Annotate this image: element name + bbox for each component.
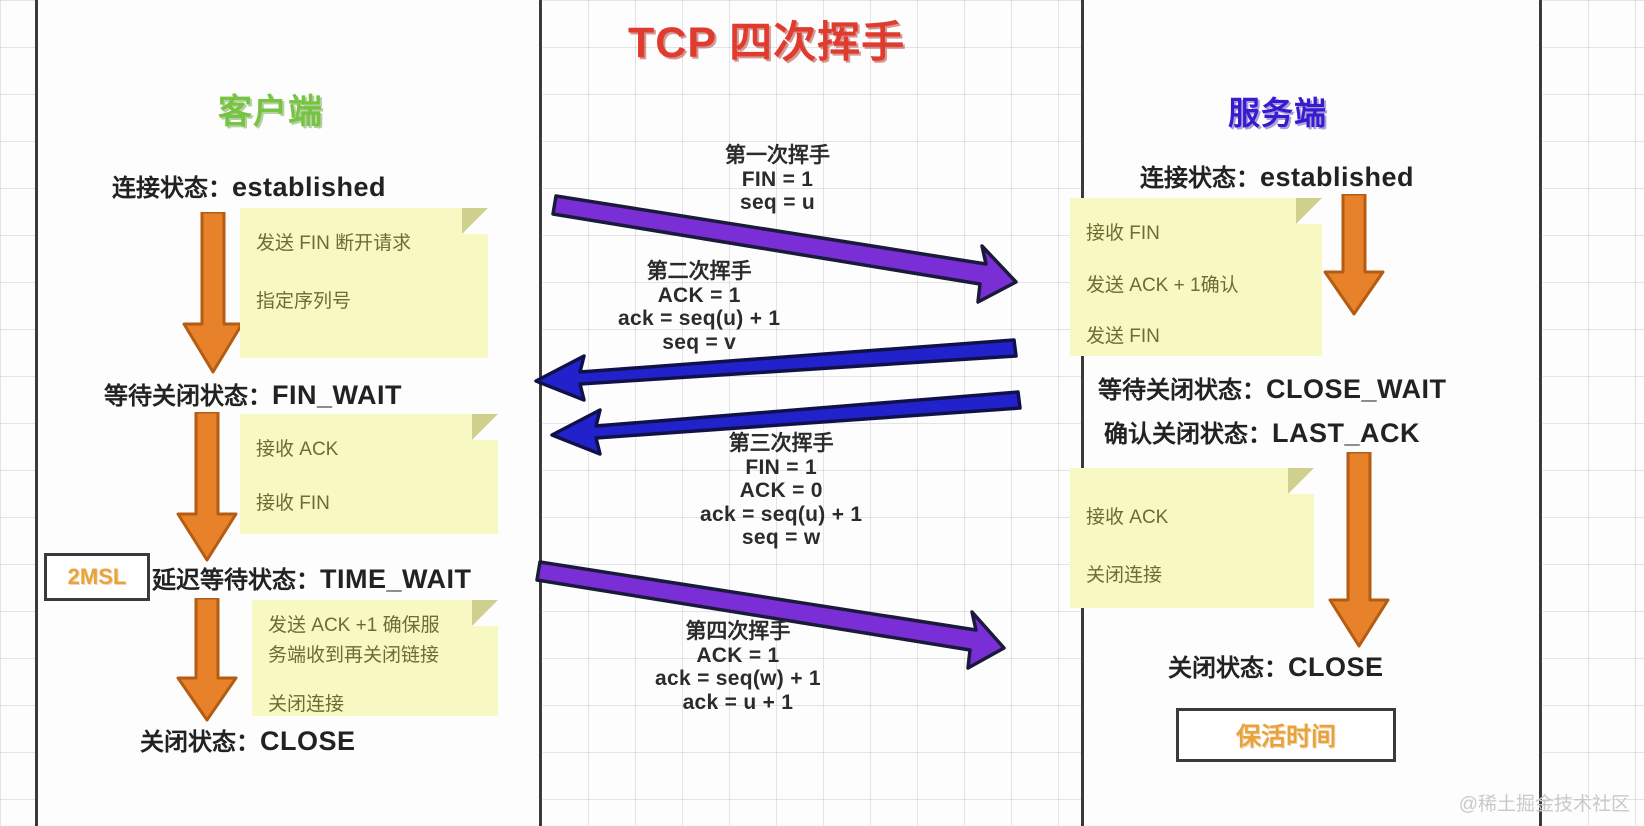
client-state-fin-wait: 等待关闭状态：FIN_WAIT [104,376,402,411]
client-arrow-1-icon [182,212,244,374]
client-2msl-box: 2MSL [44,553,150,601]
client-state-established: 连接状态：established [112,168,386,203]
divider-right [1539,0,1542,826]
client-note-3: 发送 ACK +1 确保服 务端收到再关闭链接 关闭连接 [252,600,498,716]
client-2msl-label: 2MSL [68,564,127,590]
server-arrow-2-icon [1328,452,1390,648]
server-note-1: 接收 FIN 发送 ACK + 1确认 发送 FIN [1070,198,1322,356]
message-3-label: 第三次挥手 FIN = 1 ACK = 0 ack = seq(u) + 1 s… [700,432,862,550]
grid-paper-right [1541,0,1644,826]
server-arrow-1-icon [1323,194,1385,316]
server-state-last-ack: 确认关闭状态：LAST_ACK [1104,414,1420,449]
client-note-2: 接收 ACK 接收 FIN [240,414,498,534]
server-title: 服务端 [1228,88,1327,134]
server-keepalive-box: 保活时间 [1176,708,1396,762]
divider-left [35,0,38,826]
divider-client-mid [539,0,542,826]
client-arrow-2-icon [176,412,238,562]
client-state-close: 关闭状态：CLOSE [140,722,356,757]
page-title: TCP 四次挥手 [628,8,905,70]
server-state-close-wait: 等待关闭状态：CLOSE_WAIT [1098,370,1447,405]
server-note-2: 接收 ACK 关闭连接 [1070,468,1314,608]
message-1-label: 第一次挥手 FIN = 1 seq = u [725,144,830,215]
client-title: 客户端 [218,84,323,133]
watermark: @稀土掘金技术社区 [1459,789,1630,816]
server-state-established: 连接状态：established [1140,158,1414,193]
server-state-close: 关闭状态：CLOSE [1168,648,1384,683]
divider-mid-server [1081,0,1084,826]
grid-paper-left [0,0,37,826]
client-state-time-wait: 延迟等待状态：TIME_WAIT [152,560,472,595]
server-keepalive-label: 保活时间 [1236,717,1336,753]
message-4-label: 第四次挥手 ACK = 1 ack = seq(w) + 1 ack = u +… [655,620,821,714]
message-2-label: 第二次挥手 ACK = 1 ack = seq(u) + 1 seq = v [618,260,780,354]
client-note-1: 发送 FIN 断开请求 指定序列号 [240,208,488,358]
diagram-canvas: TCP 四次挥手 客户端 服务端 连接状态：established 发送 FIN… [0,0,1644,826]
client-arrow-3-icon [176,598,238,722]
